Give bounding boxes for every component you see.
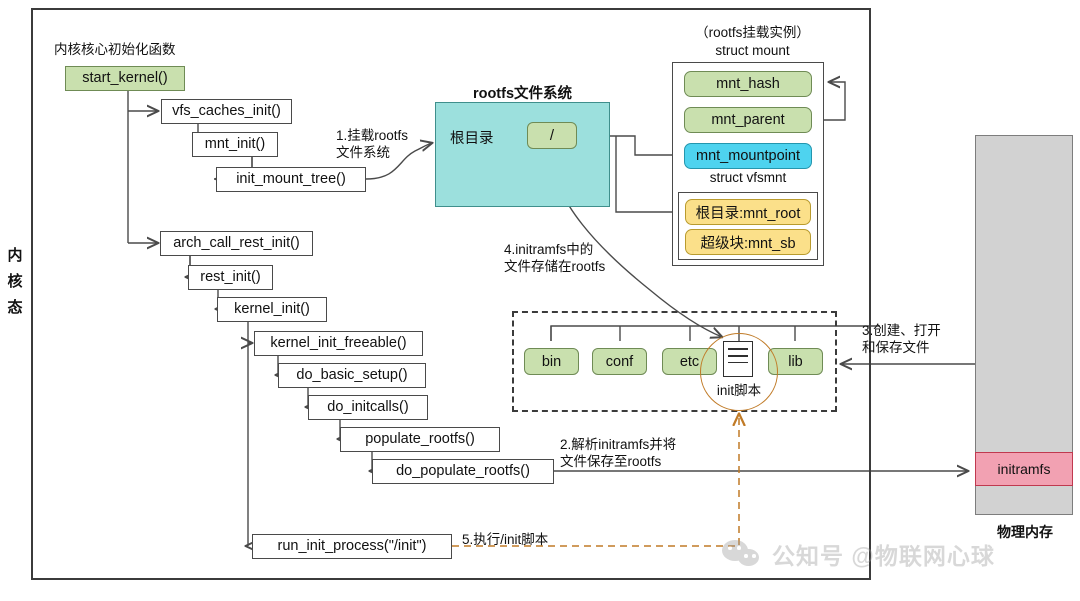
node-do-populate-rootfs[interactable]: do_populate_rootfs(): [372, 459, 554, 484]
node-kernel-init[interactable]: kernel_init(): [217, 297, 327, 322]
node-do-basic-setup[interactable]: do_basic_setup(): [278, 363, 426, 388]
rootfs-filesystem-box: [435, 102, 610, 207]
memory-initramfs-block[interactable]: initramfs: [975, 452, 1073, 486]
field-mnt-mountpoint[interactable]: mnt_mountpoint: [684, 143, 812, 169]
struct-vfsmnt-caption: struct vfsmnt: [672, 170, 824, 185]
node-mnt-init[interactable]: mnt_init(): [192, 132, 278, 157]
annotation-2-line2: 文件保存至rootfs: [560, 453, 676, 470]
field-mnt-parent[interactable]: mnt_parent: [684, 107, 812, 133]
annotation-4-line1: 4.initramfs中的: [504, 241, 605, 258]
node-start-kernel[interactable]: start_kernel(): [65, 66, 185, 91]
dir-bin[interactable]: bin: [524, 348, 579, 375]
root-directory-label: 根目录: [450, 127, 494, 148]
watermark-text: 公知号 @物联网心球: [772, 537, 995, 571]
kernel-mode-label: 内 核 态: [2, 243, 28, 321]
struct-mount-caption-line1: （rootfs挂载实例）: [665, 24, 840, 42]
struct-mount-caption: （rootfs挂载实例） struct mount: [665, 24, 840, 60]
node-vfs-caches-init[interactable]: vfs_caches_init(): [161, 99, 292, 124]
annotation-1-line2: 文件系统: [336, 144, 408, 161]
annotation-3-line2: 和保存文件: [862, 339, 941, 356]
dir-conf[interactable]: conf: [592, 348, 647, 375]
rootfs-title: rootfs文件系统: [435, 82, 610, 103]
annotation-2: 2.解析initramfs并将 文件保存至rootfs: [560, 436, 676, 470]
node-run-init-process[interactable]: run_init_process("/init"): [252, 534, 452, 559]
annotation-2-line1: 2.解析initramfs并将: [560, 436, 676, 453]
kernel-mode-char-2: 核: [2, 269, 28, 295]
node-do-initcalls[interactable]: do_initcalls(): [308, 395, 428, 420]
struct-mount-caption-line2: struct mount: [665, 42, 840, 60]
wechat-icon: [722, 539, 764, 569]
root-node-slash[interactable]: /: [527, 122, 577, 149]
kernel-mode-char-1: 内: [2, 243, 28, 269]
annotation-4-line2: 文件存储在rootfs: [504, 258, 605, 275]
annotation-1-line1: 1.挂载rootfs: [336, 127, 408, 144]
kernel-mode-char-3: 态: [2, 295, 28, 321]
node-arch-call-rest-init[interactable]: arch_call_rest_init(): [160, 231, 313, 256]
field-mnt-sb[interactable]: 超级块:mnt_sb: [685, 229, 811, 255]
annotation-5-line1: 5.执行/init脚本: [462, 531, 548, 548]
diagram-canvas: 内 核 态 内核核心初始化函数 start_kernel() vfs_cache…: [0, 0, 1080, 601]
node-kernel-init-freeable[interactable]: kernel_init_freeable(): [254, 331, 423, 356]
annotation-3: 3.创建、打开 和保存文件: [862, 322, 941, 356]
node-populate-rootfs[interactable]: populate_rootfs(): [340, 427, 500, 452]
node-rest-init[interactable]: rest_init(): [188, 265, 273, 290]
field-mnt-hash[interactable]: mnt_hash: [684, 71, 812, 97]
init-script-document-icon: [723, 341, 753, 377]
kernel-init-caption: 内核核心初始化函数: [54, 41, 176, 58]
init-script-label: init脚本: [700, 379, 778, 399]
annotation-5: 5.执行/init脚本: [462, 531, 548, 548]
watermark: 公知号 @物联网心球: [722, 534, 995, 574]
annotation-4: 4.initramfs中的 文件存储在rootfs: [504, 241, 605, 275]
node-init-mount-tree[interactable]: init_mount_tree(): [216, 167, 366, 192]
annotation-3-line1: 3.创建、打开: [862, 322, 941, 339]
field-mnt-root[interactable]: 根目录:mnt_root: [685, 199, 811, 225]
annotation-1: 1.挂载rootfs 文件系统: [336, 127, 408, 161]
